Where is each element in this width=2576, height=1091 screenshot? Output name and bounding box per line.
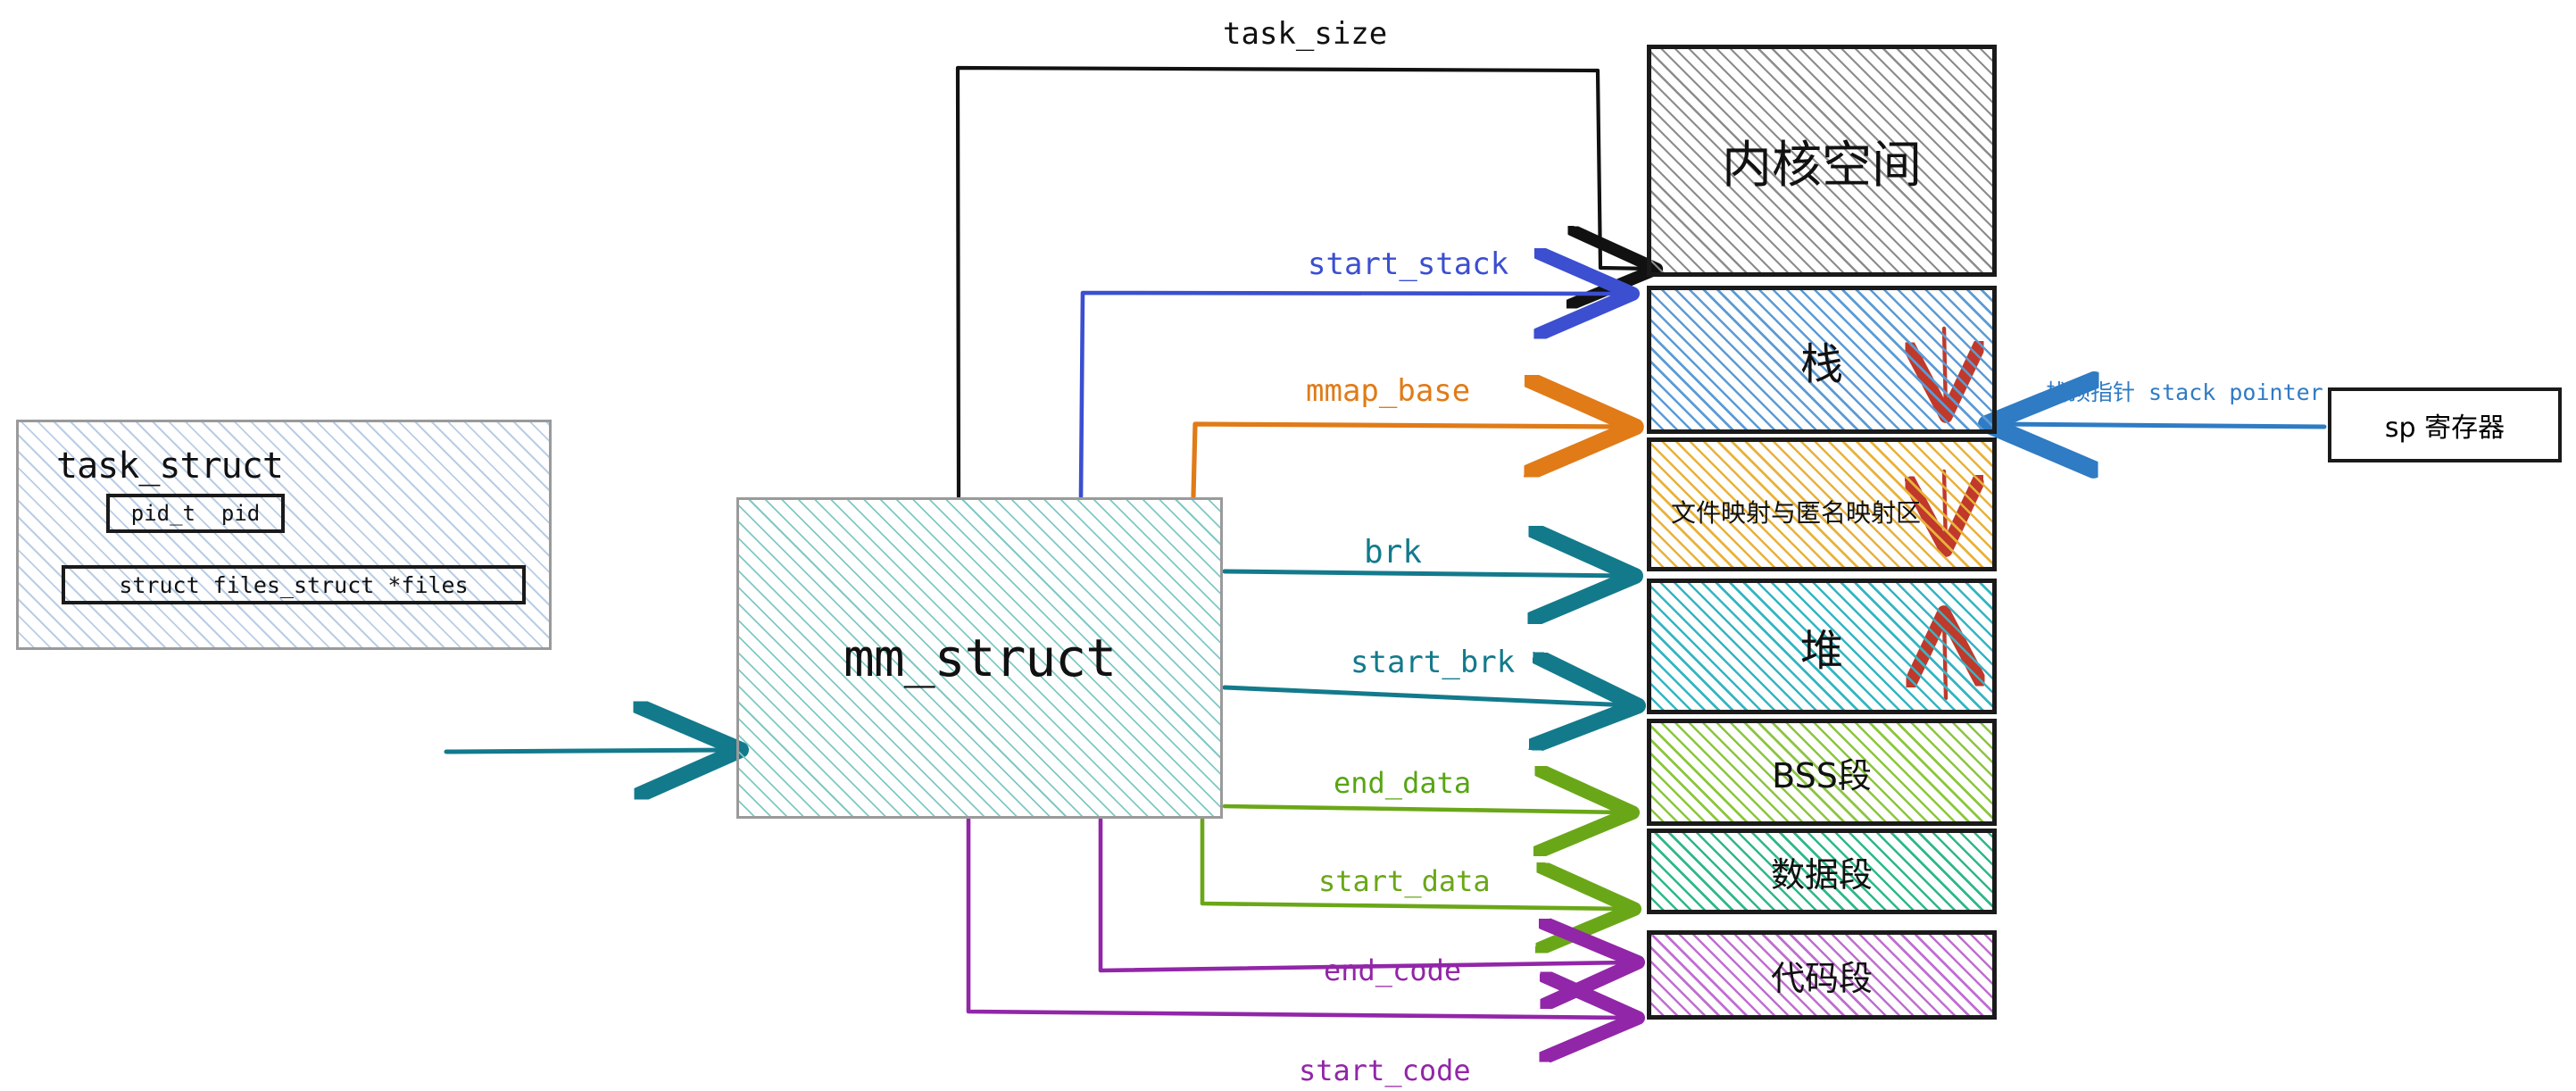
connector-mmap-base (1193, 424, 1626, 496)
stack-pointer-note: 栈顶指针 stack pointer (2046, 375, 2323, 407)
memory-region-heap: 堆 (1647, 579, 1997, 714)
task-struct-field-files: struct files_struct *files (62, 565, 526, 604)
label-start-code: start_code (1299, 1054, 1471, 1087)
label-end-data: end_data (1334, 766, 1471, 800)
memory-region-bss-label: BSS段 (1772, 748, 1872, 797)
diagram-canvas: task_struct pid_t pid struct files_struc… (0, 0, 2576, 1091)
memory-region-bss: BSS段 (1647, 719, 1997, 826)
task-struct-box: task_struct pid_t pid struct files_struc… (16, 420, 552, 650)
label-task-size: task_size (1223, 16, 1387, 52)
label-start-stack: start_stack (1308, 246, 1508, 282)
task-struct-title: task_struct (56, 446, 283, 487)
task-struct-field-files-label: struct files_struct *files (119, 572, 468, 598)
memory-region-code: 代码段 (1647, 930, 1997, 1020)
sp-register-label: sp 寄存器 (2385, 405, 2505, 445)
connector-end-data (1225, 806, 1625, 812)
memory-region-mmap: 文件映射与匿名映射区 (1647, 437, 1997, 571)
label-end-code: end_code (1324, 954, 1461, 987)
sp-register-box: sp 寄存器 (2328, 387, 2562, 462)
task-struct-field-pid: pid_t pid (106, 494, 285, 533)
memory-region-kernel-label: 内核空间 (1722, 125, 1922, 197)
memory-region-code-label: 代码段 (1771, 951, 1873, 1000)
memory-region-data: 数据段 (1647, 829, 1997, 914)
label-start-brk: start_brk (1350, 645, 1515, 680)
memory-region-heap-label: 堆 (1800, 615, 1843, 678)
connector-stack-pointer (1996, 424, 2324, 427)
task-struct-field-pid-label: pid_t pid (131, 501, 261, 526)
memory-region-stack: 栈 (1647, 286, 1997, 434)
connector-brk (1225, 571, 1626, 576)
memory-region-kernel: 内核空间 (1647, 45, 1997, 277)
label-brk: brk (1364, 534, 1422, 570)
connector-start-brk (1225, 687, 1629, 705)
connector-task-size (958, 68, 1649, 496)
connector-start-code (968, 820, 1630, 1018)
label-mmap-base: mmap_base (1306, 373, 1470, 409)
mm-struct-box: mm_struct (736, 497, 1223, 819)
memory-region-stack-label: 栈 (1800, 329, 1843, 391)
label-start-data: start_data (1318, 864, 1491, 898)
connector-mm-link (446, 750, 732, 752)
memory-region-data-label: 数据段 (1771, 847, 1873, 896)
memory-region-mmap-label: 文件映射与匿名映射区 (1671, 494, 1921, 529)
mm-struct-label: mm_struct (843, 628, 1116, 688)
